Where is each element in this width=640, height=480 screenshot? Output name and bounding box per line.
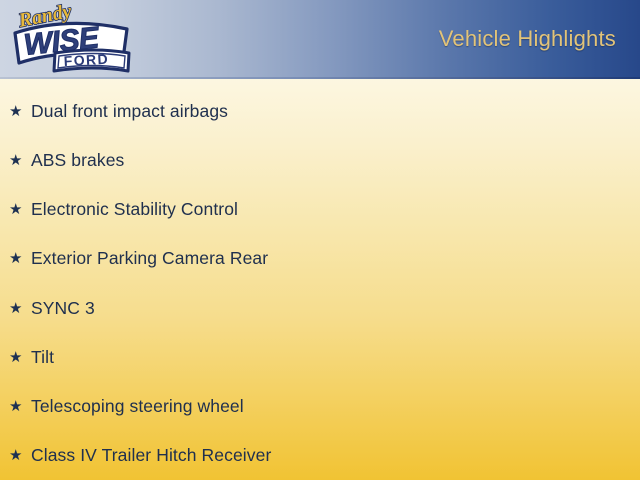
list-item: ★ Electronic Stability Control	[9, 197, 238, 221]
star-icon: ★	[9, 104, 31, 119]
page-title: Vehicle Highlights	[439, 26, 616, 52]
star-icon: ★	[9, 251, 31, 266]
list-item-label: ABS brakes	[31, 148, 124, 172]
logo-ford-text: FORD	[63, 51, 109, 69]
list-item-label: Telescoping steering wheel	[31, 394, 244, 418]
star-icon: ★	[9, 301, 31, 316]
logo-ford-banner: FORD	[54, 50, 129, 71]
star-icon: ★	[9, 202, 31, 217]
list-item: ★ Dual front impact airbags	[9, 99, 228, 123]
list-item-label: SYNC 3	[31, 296, 95, 320]
vehicle-highlights-slide: WISE FORD Randy Vehicle Highlights ★ Dua…	[0, 0, 640, 480]
list-item: ★ ABS brakes	[9, 148, 124, 172]
vehicle-highlights-list: ★ Dual front impact airbags ★ ABS brakes…	[0, 79, 640, 480]
randy-wise-ford-logo: WISE FORD Randy	[7, 3, 133, 79]
list-item-label: Dual front impact airbags	[31, 99, 228, 123]
list-item-label: Class IV Trailer Hitch Receiver	[31, 443, 271, 467]
list-item: ★ Class IV Trailer Hitch Receiver	[9, 443, 271, 467]
list-item-label: Electronic Stability Control	[31, 197, 238, 221]
list-item-label: Exterior Parking Camera Rear	[31, 246, 268, 270]
list-item-label: Tilt	[31, 345, 54, 369]
slide-header: WISE FORD Randy Vehicle Highlights	[0, 0, 640, 79]
star-icon: ★	[9, 399, 31, 414]
star-icon: ★	[9, 448, 31, 463]
list-item: ★ Telescoping steering wheel	[9, 394, 244, 418]
star-icon: ★	[9, 153, 31, 168]
list-item: ★ Tilt	[9, 345, 54, 369]
list-item: ★ Exterior Parking Camera Rear	[9, 246, 268, 270]
list-item: ★ SYNC 3	[9, 296, 95, 320]
star-icon: ★	[9, 350, 31, 365]
